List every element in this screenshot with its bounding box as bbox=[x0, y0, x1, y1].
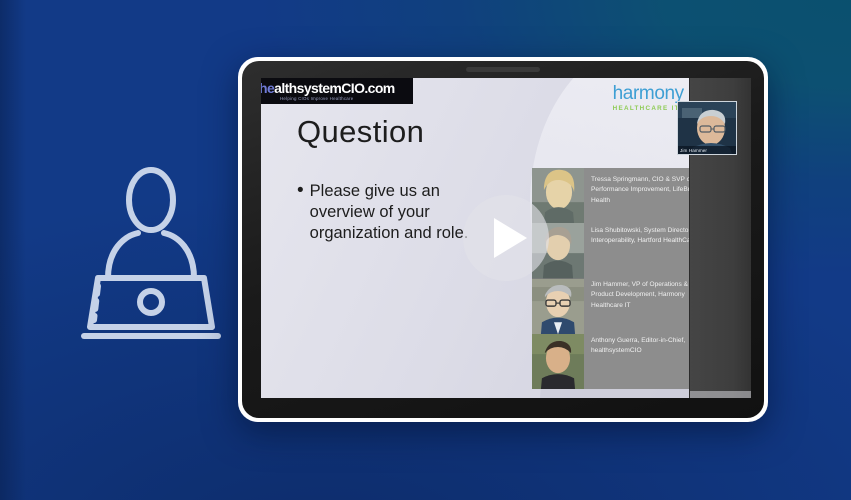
panelist-photo-2 bbox=[532, 279, 584, 334]
screenshot-canvas: healthsystemCIO.com Helping CIOs Improve… bbox=[0, 0, 851, 500]
tablet-bezel: healthsystemCIO.com Helping CIOs Improve… bbox=[242, 61, 764, 418]
tablet-screen: healthsystemCIO.com Helping CIOs Improve… bbox=[261, 78, 751, 398]
panelist-bio-0: Tressa Springmann, CIO & SVP of Performa… bbox=[591, 175, 690, 206]
harmony-subtitle: HEALTHCARE IT bbox=[613, 106, 684, 112]
panelist-roster: Tressa Springmann, CIO & SVP of Performa… bbox=[532, 168, 690, 389]
panelist-photo-column bbox=[532, 168, 584, 389]
harmony-wordmark: harmony bbox=[613, 84, 684, 103]
harmony-healthcare-it-logo: harmony HEALTHCARE IT bbox=[613, 84, 684, 112]
video-player[interactable]: healthsystemCIO.com Helping CIOs Improve… bbox=[261, 78, 751, 398]
logo-main-text: althsystemCIO.com bbox=[274, 80, 395, 96]
webcam-speaker-name: Jim Hammer bbox=[678, 146, 736, 154]
panelist-bio-2: Jim Hammer, VP of Operations & Product D… bbox=[591, 280, 690, 311]
logo-wordmark: healthsystemCIO.com bbox=[261, 81, 413, 95]
healthsystemcio-logo: healthsystemCIO.com Helping CIOs Improve… bbox=[261, 78, 413, 104]
webcam-overlay[interactable]: Jim Hammer bbox=[677, 101, 737, 155]
bullet-marker: • bbox=[297, 181, 304, 244]
logo-tagline: Helping CIOs Improve Healthcare bbox=[280, 96, 413, 102]
logo-prefix: he bbox=[261, 80, 274, 96]
panelist-bio-1: Lisa Shubitowski, System Director, Inter… bbox=[591, 226, 690, 247]
tablet-camera-speaker bbox=[466, 67, 540, 72]
tablet-device: healthsystemCIO.com Helping CIOs Improve… bbox=[238, 57, 768, 422]
panelist-bio-column: Tressa Springmann, CIO & SVP of Performa… bbox=[584, 168, 690, 389]
play-button[interactable] bbox=[463, 195, 549, 281]
play-triangle-icon bbox=[494, 218, 527, 258]
slide-title: Question bbox=[297, 114, 424, 150]
webinar-presenter-laptop-icon bbox=[76, 160, 226, 350]
panelist-bio-3: Anthony Guerra, Editor-in-Chief, healths… bbox=[591, 336, 690, 357]
panelist-photo-3 bbox=[532, 334, 584, 389]
video-letterbox-corner bbox=[690, 391, 751, 398]
